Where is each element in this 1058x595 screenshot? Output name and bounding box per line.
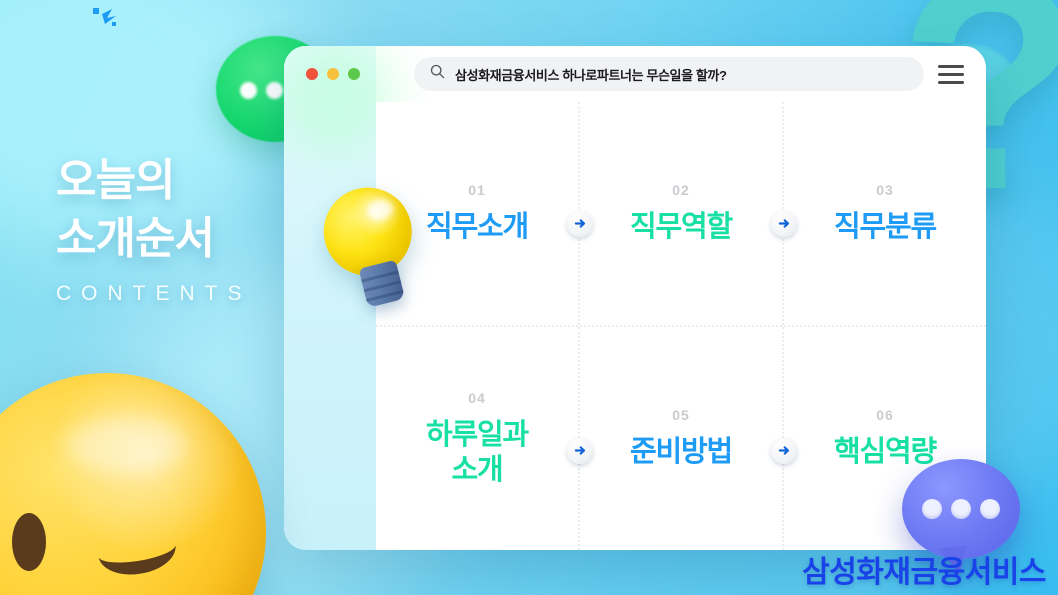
emoji-wink-eye <box>95 521 179 580</box>
bubble-dot <box>240 82 257 99</box>
arrow-right-icon <box>567 211 593 237</box>
item-number: 06 <box>876 407 894 423</box>
item-title: 하루일과 소개 <box>426 418 528 486</box>
bubble-dot <box>980 499 1000 519</box>
hamburger-bar <box>938 73 964 76</box>
contents-item-05[interactable]: 05 준비방법 <box>578 327 782 550</box>
traffic-lights <box>306 68 398 80</box>
bulb-ring <box>366 290 404 302</box>
hamburger-bar <box>938 81 964 84</box>
bubble-dot <box>922 499 942 519</box>
contents-grid: 01 직무소개 02 직무역할 <box>376 102 986 550</box>
close-icon[interactable] <box>306 68 318 80</box>
bulb-ring <box>364 280 402 292</box>
item-title: 준비방법 <box>630 435 732 469</box>
item-number: 05 <box>672 407 690 423</box>
chat-bubble-icon <box>902 459 1020 559</box>
search-input[interactable]: 삼성화재금융서비스 하나로파트너는 무슨일을 할까? <box>414 57 924 91</box>
emoji-eye <box>12 513 46 571</box>
bulb-base <box>359 260 406 308</box>
item-title: 직무역할 <box>630 210 732 244</box>
emoji-mouth <box>16 579 140 595</box>
window-titlebar: 삼성화재금융서비스 하나로파트너는 무슨일을 할까? <box>284 46 986 102</box>
slide-canvas: ? ? 오늘의 소개순서 CONTENTS <box>0 0 1058 595</box>
arrow-right-icon <box>567 438 593 464</box>
bubble-dot <box>266 82 283 99</box>
contents-item-02[interactable]: 02 직무역할 <box>578 102 782 325</box>
bubble-dot <box>951 499 971 519</box>
arrow-right-icon <box>771 438 797 464</box>
contents-item-03[interactable]: 03 직무분류 <box>782 102 986 325</box>
brand-name: 삼성화재금융서비스 <box>802 547 1046 591</box>
arrow-right-icon <box>771 211 797 237</box>
contents-item-04[interactable]: 04 하루일과 소개 <box>376 327 578 550</box>
item-number: 02 <box>672 182 690 198</box>
winking-face-emoji <box>0 373 266 595</box>
contents-row: 01 직무소개 02 직무역할 <box>376 102 986 325</box>
hamburger-bar <box>938 65 964 68</box>
item-number: 03 <box>876 182 894 198</box>
sparkle-icon <box>92 6 120 36</box>
item-number: 01 <box>468 182 486 198</box>
title-line-2: 소개순서 <box>56 210 252 268</box>
minimize-icon[interactable] <box>327 68 339 80</box>
item-number: 04 <box>468 390 486 406</box>
search-icon <box>430 64 445 84</box>
hamburger-icon[interactable] <box>938 65 964 84</box>
item-title: 직무소개 <box>426 210 528 244</box>
title-line-1: 오늘의 <box>56 152 252 210</box>
title-subtitle: CONTENTS <box>56 282 252 306</box>
page-title: 오늘의 소개순서 CONTENTS <box>56 152 252 306</box>
maximize-icon[interactable] <box>348 68 360 80</box>
item-title: 직무분류 <box>834 210 936 244</box>
contents-row: 04 하루일과 소개 05 준비방법 <box>376 325 986 550</box>
emoji-highlight <box>66 417 186 473</box>
search-query-text: 삼성화재금융서비스 하나로파트너는 무슨일을 할까? <box>455 65 727 84</box>
item-title: 핵심역량 <box>834 435 936 469</box>
